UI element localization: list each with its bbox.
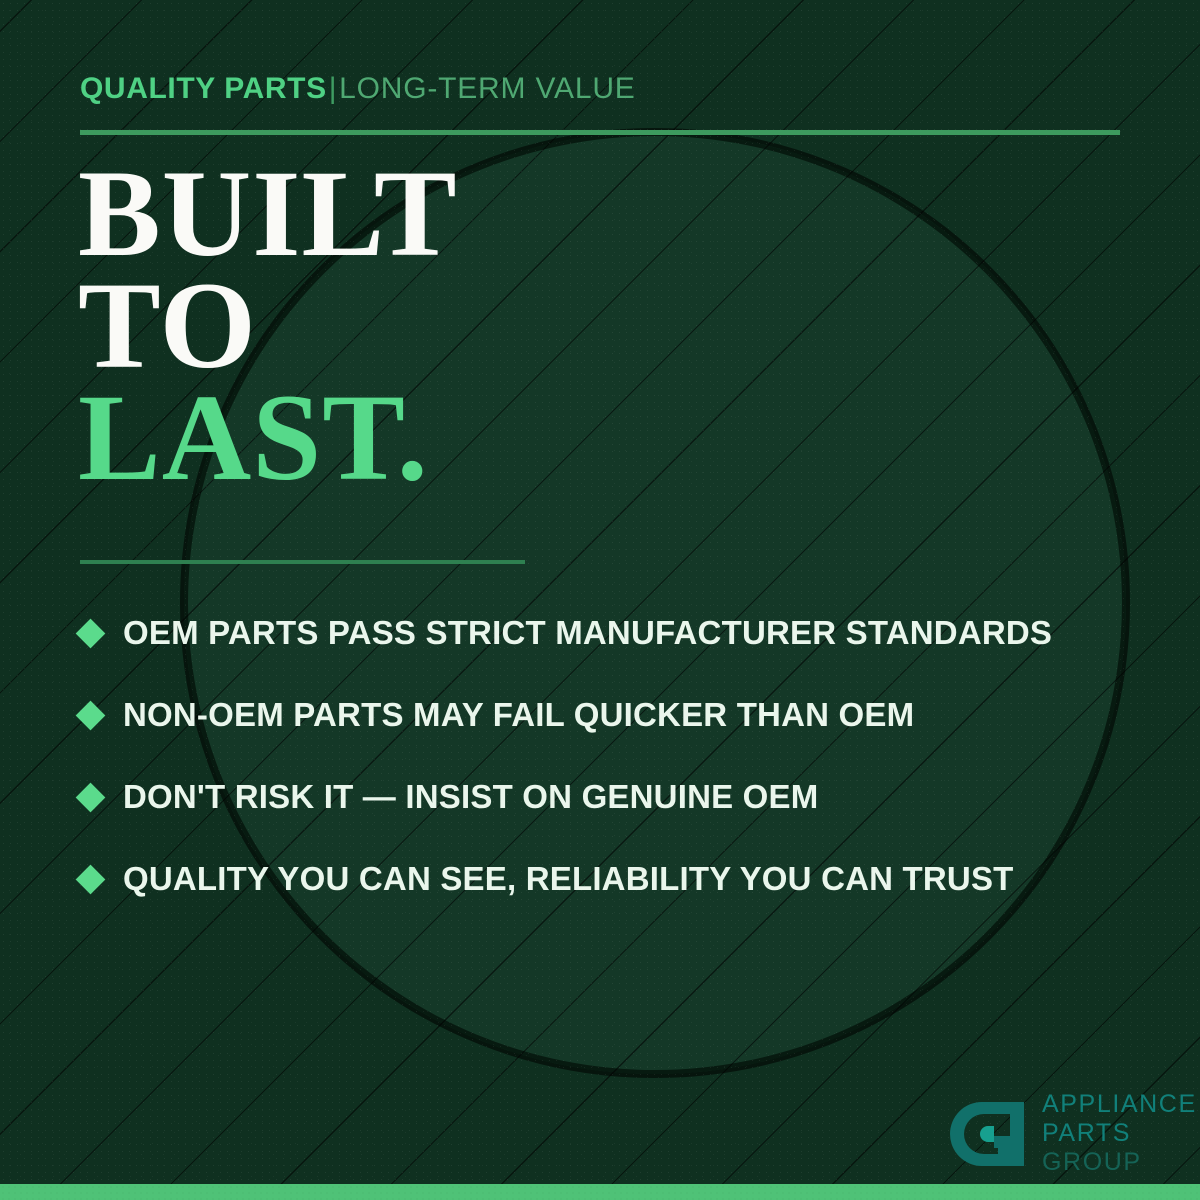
list-item: DON'T RISK IT — INSIST ON GENUINE OEM	[80, 756, 1140, 838]
list-item: NON-OEM PARTS MAY FAIL QUICKER THAN OEM	[80, 674, 1140, 756]
brand-logo: APPLIANCE PARTS GROUP	[948, 1090, 1197, 1178]
benefits-list: OEM PARTS PASS STRICT MANUFACTURER STAND…	[80, 592, 1140, 920]
appliance-parts-group-g-icon	[948, 1090, 1032, 1178]
list-item: OEM PARTS PASS STRICT MANUFACTURER STAND…	[80, 592, 1140, 674]
list-item-label: NON-OEM PARTS MAY FAIL QUICKER THAN OEM	[123, 696, 914, 734]
poster-content: QUALITY PARTS|LONG-TERM VALUE BUILT TO L…	[0, 0, 1200, 1200]
brand-word-group: GROUP	[1042, 1148, 1197, 1177]
headline-block: BUILT TO LAST.	[78, 158, 458, 494]
headline-line-2: TO	[78, 270, 458, 382]
brand-word-parts: PARTS	[1042, 1119, 1197, 1148]
brand-word-appliance: APPLIANCE	[1042, 1090, 1197, 1119]
brand-logo-wordmark: APPLIANCE PARTS GROUP	[1042, 1090, 1197, 1177]
kicker-strong-label: QUALITY PARTS	[80, 72, 327, 105]
diamond-bullet-icon	[76, 782, 106, 812]
headline-divider-rule	[80, 560, 525, 564]
diamond-bullet-icon	[76, 864, 106, 894]
poster-canvas: QUALITY PARTS|LONG-TERM VALUE BUILT TO L…	[0, 0, 1200, 1200]
diamond-bullet-icon	[76, 700, 106, 730]
kicker-separator: |	[327, 72, 339, 105]
list-item-label: QUALITY YOU CAN SEE, RELIABILITY YOU CAN…	[123, 860, 1014, 898]
footer-accent-bar	[0, 1184, 1200, 1200]
headline-line-1: BUILT	[78, 158, 458, 270]
footer-bar-texture	[0, 1184, 1200, 1200]
list-item-label: OEM PARTS PASS STRICT MANUFACTURER STAND…	[123, 614, 1052, 652]
header-divider-rule	[80, 130, 1120, 135]
headline-line-3: LAST.	[78, 382, 458, 494]
header-kicker: QUALITY PARTS|LONG-TERM VALUE	[80, 74, 636, 104]
diamond-bullet-icon	[76, 618, 106, 648]
kicker-light-label: LONG-TERM VALUE	[339, 72, 636, 105]
list-item-label: DON'T RISK IT — INSIST ON GENUINE OEM	[123, 778, 818, 816]
list-item: QUALITY YOU CAN SEE, RELIABILITY YOU CAN…	[80, 838, 1140, 920]
